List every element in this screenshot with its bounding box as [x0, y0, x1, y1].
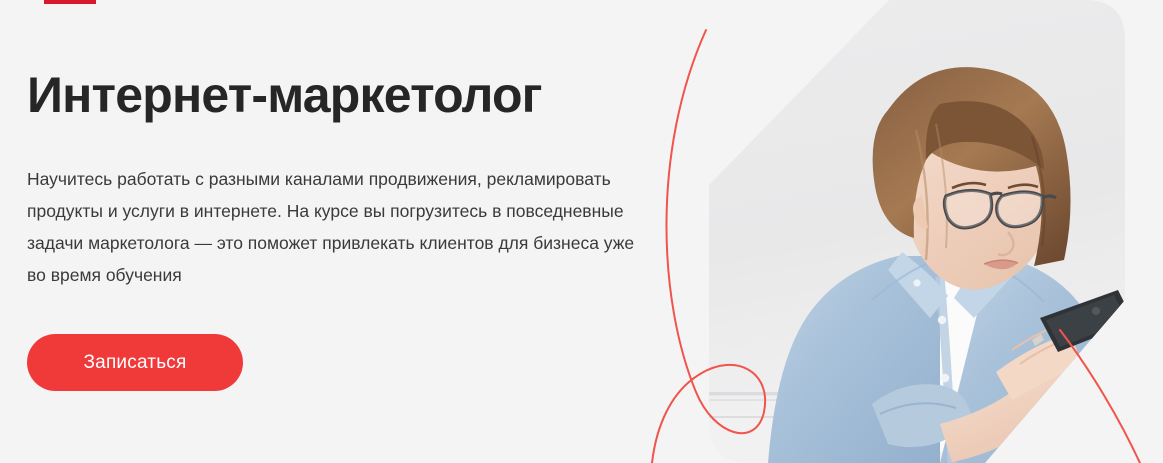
- hero-section: Интернет-маркетолог Научитесь работать с…: [0, 0, 1163, 463]
- hero-media: [640, 0, 1163, 463]
- page-title: Интернет-маркетолог: [27, 65, 542, 125]
- hero-content: Интернет-маркетолог Научитесь работать с…: [27, 0, 647, 463]
- hero-photo-card: [640, 0, 1163, 463]
- enroll-button[interactable]: Записаться: [27, 334, 243, 391]
- hero-description: Научитесь работать с разными каналами пр…: [27, 163, 642, 291]
